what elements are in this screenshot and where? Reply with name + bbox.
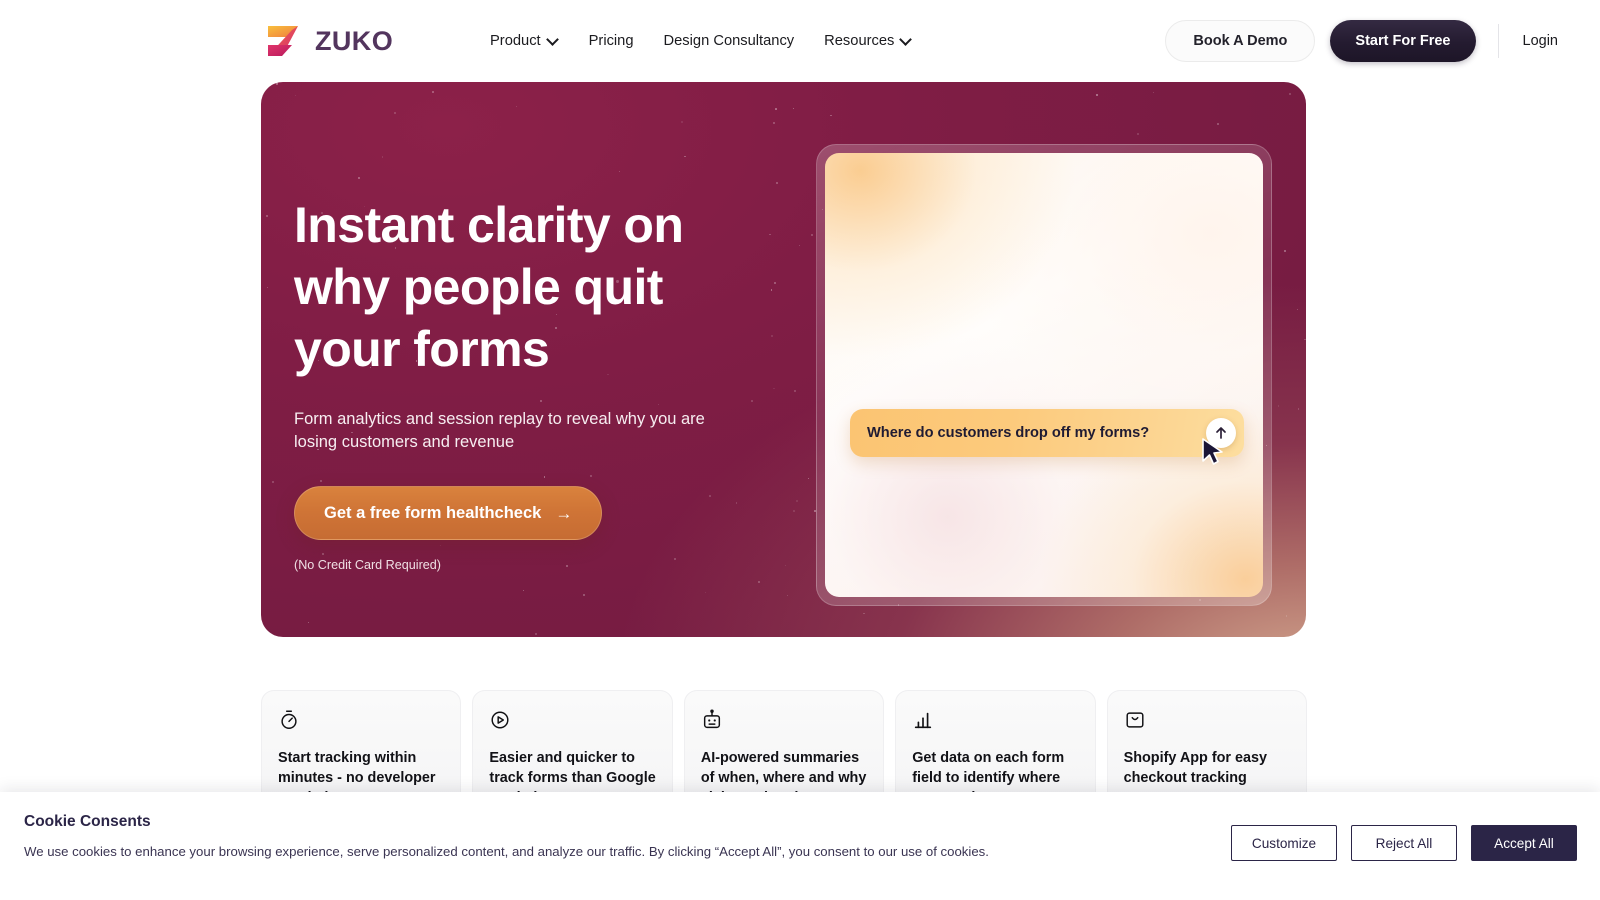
star-speck <box>830 115 832 117</box>
star-speck <box>705 592 706 593</box>
star-speck <box>358 177 360 179</box>
star-speck <box>1096 94 1097 95</box>
star-speck <box>394 112 396 114</box>
star-speck <box>523 590 524 591</box>
star-speck <box>1286 615 1288 617</box>
star-speck <box>808 478 809 479</box>
star-speck <box>535 633 537 635</box>
star-speck <box>863 613 864 614</box>
star-speck <box>774 282 776 284</box>
robot-icon <box>701 709 723 731</box>
prompt-send-button[interactable] <box>1206 418 1236 448</box>
ai-prompt-text: Where do customers drop off my forms? <box>867 425 1149 441</box>
ai-prompt-bar[interactable]: Where do customers drop off my forms? <box>850 409 1244 457</box>
star-speck <box>773 122 775 124</box>
star-speck <box>276 82 278 84</box>
bar-chart-icon <box>912 709 934 731</box>
star-speck <box>769 234 770 235</box>
star-speck <box>773 388 775 390</box>
star-speck <box>1153 92 1154 93</box>
cookie-banner-body: We use cookies to enhance your browsing … <box>24 843 989 861</box>
hero-note: (No Credit Card Required) <box>294 558 764 572</box>
brand-name: ZUKO <box>315 26 393 57</box>
header-divider <box>1498 24 1499 58</box>
nav-item-label: Resources <box>824 28 894 54</box>
star-speck <box>1137 133 1139 135</box>
star-speck <box>796 500 798 502</box>
star-speck <box>1289 93 1291 95</box>
star-speck <box>267 287 268 288</box>
hero-subtitle: Form analytics and session replay to rev… <box>294 408 714 454</box>
hero-visual-frame: Where do customers drop off my forms? <box>816 144 1272 606</box>
cookie-consent-banner: Cookie Consents We use cookies to enhanc… <box>0 792 1600 900</box>
hero-copy: Instant clarity on why people quit your … <box>294 194 764 572</box>
star-speck <box>787 595 788 596</box>
hero-cta-label: Get a free form healthcheck <box>324 504 541 523</box>
feature-card-text: Shopify App for easy checkout tracking <box>1124 748 1290 788</box>
star-speck <box>684 156 685 157</box>
star-speck <box>1297 309 1299 311</box>
site-header: ZUKO Product Pricing Design Consultancy … <box>0 0 1600 82</box>
star-speck <box>382 156 384 158</box>
page-root: ZUKO Product Pricing Design Consultancy … <box>0 0 1600 900</box>
start-for-free-button[interactable]: Start For Free <box>1330 20 1475 62</box>
nav-item-resources[interactable]: Resources <box>824 28 912 54</box>
brand-logo[interactable]: ZUKO <box>262 20 393 62</box>
nav-item-label: Pricing <box>589 28 634 54</box>
hero-title: Instant clarity on why people quit your … <box>294 194 764 380</box>
nav-item-product[interactable]: Product <box>490 28 559 54</box>
star-speck <box>794 390 796 392</box>
star-speck <box>308 622 310 624</box>
star-speck <box>1217 123 1219 125</box>
book-a-demo-button[interactable]: Book A Demo <box>1165 20 1315 62</box>
star-speck <box>799 245 800 246</box>
hero-visual-card: Where do customers drop off my forms? <box>825 153 1263 597</box>
star-speck <box>583 594 585 596</box>
header-actions: Book A Demo Start For Free Login <box>1165 20 1558 62</box>
star-speck <box>295 95 296 96</box>
star-speck <box>793 108 794 109</box>
star-speck <box>516 106 517 107</box>
star-speck <box>771 335 773 337</box>
star-speck <box>1298 408 1299 409</box>
play-circle-icon <box>489 709 511 731</box>
nav-item-design-consultancy[interactable]: Design Consultancy <box>664 28 795 54</box>
star-speck <box>785 565 786 566</box>
star-speck <box>758 581 760 583</box>
star-speck <box>1284 250 1286 252</box>
star-speck <box>1304 339 1306 341</box>
chevron-down-icon <box>901 34 912 45</box>
arrow-right-icon: → <box>555 505 572 522</box>
shopping-bag-icon <box>1124 709 1146 731</box>
hero-cta-button[interactable]: Get a free form healthcheck → <box>294 486 602 540</box>
star-speck <box>432 91 434 93</box>
star-speck <box>793 510 795 512</box>
star-speck <box>776 182 778 184</box>
cookie-reject-all-button[interactable]: Reject All <box>1351 825 1457 861</box>
login-link[interactable]: Login <box>1523 33 1558 49</box>
cookie-banner-title: Cookie Consents <box>24 813 151 831</box>
arrow-up-icon <box>1214 426 1228 440</box>
cookie-banner-actions: Customize Reject All Accept All <box>1231 825 1577 861</box>
cookie-customize-button[interactable]: Customize <box>1231 825 1337 861</box>
star-speck <box>266 215 267 216</box>
star-speck <box>771 289 773 291</box>
star-speck <box>619 171 620 172</box>
star-speck <box>272 481 274 483</box>
stopwatch-icon <box>278 709 300 731</box>
zuko-z-logo-icon <box>262 20 304 62</box>
cookie-accept-all-button[interactable]: Accept All <box>1471 825 1577 861</box>
main-navigation: Product Pricing Design Consultancy Resou… <box>490 28 912 54</box>
star-speck <box>1278 405 1280 407</box>
star-speck <box>811 234 813 236</box>
nav-item-label: Product <box>490 28 541 54</box>
star-speck <box>775 108 777 110</box>
hero-section: Instant clarity on why people quit your … <box>261 82 1306 637</box>
chevron-down-icon <box>548 34 559 45</box>
nav-item-label: Design Consultancy <box>664 28 795 54</box>
nav-item-pricing[interactable]: Pricing <box>589 28 634 54</box>
star-speck <box>681 121 683 123</box>
